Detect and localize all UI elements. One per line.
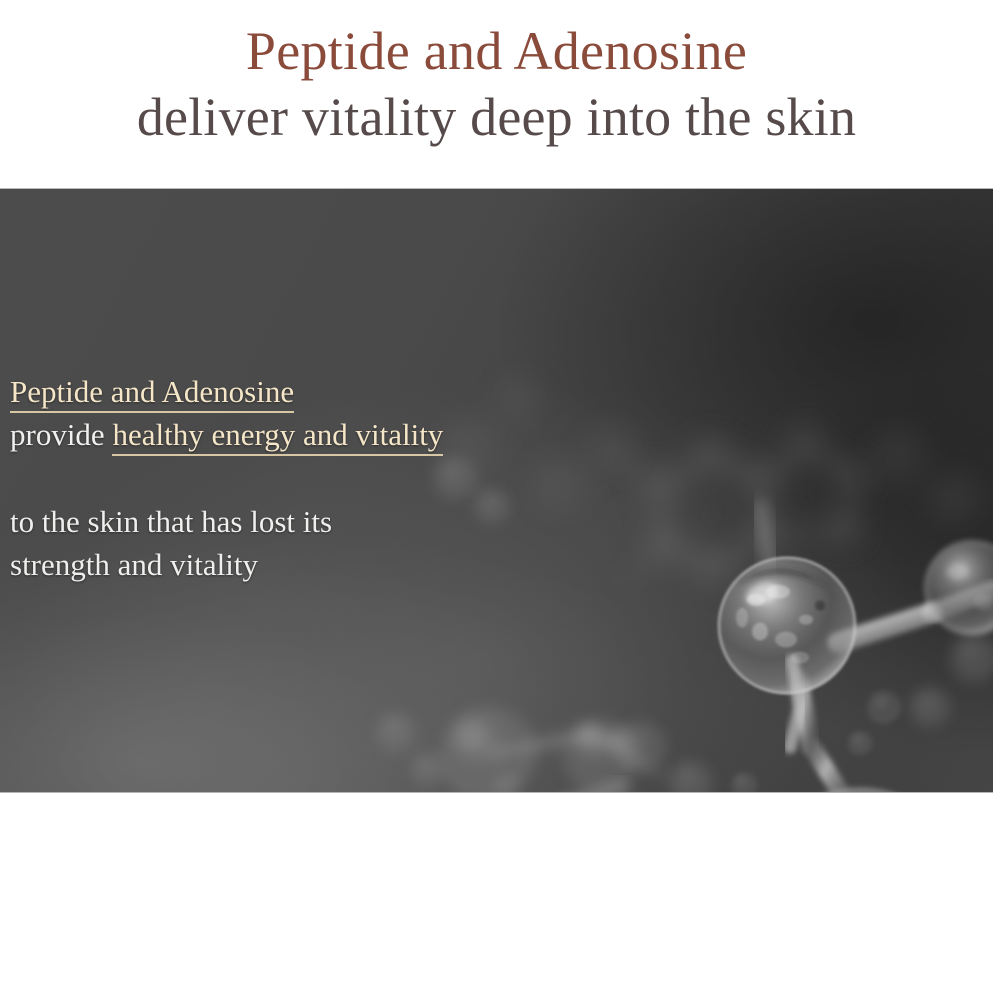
copy-line-2: provide healthy energy and vitality [10, 413, 570, 456]
highlight-healthy-energy-vitality: healthy energy and vitality [112, 417, 443, 456]
background-ring-cluster [612, 420, 876, 594]
molecule-sphere-center [506, 787, 624, 792]
molecule-image-panel: Peptide and Adenosine provide healthy en… [0, 188, 993, 793]
copy-paragraph-primary: Peptide and Adenosine provide healthy en… [10, 370, 570, 456]
copy-line-3: to the skin that has lost its [10, 500, 570, 543]
left-midground-cluster [440, 706, 668, 792]
copy-paragraph-secondary: to the skin that has lost its strength a… [10, 500, 570, 586]
copy-line-1: Peptide and Adenosine [10, 370, 570, 413]
heading-line-primary: Peptide and Adenosine [0, 18, 993, 84]
copy-line-4: strength and vitality [10, 543, 570, 586]
copy-word-provide: provide [10, 417, 112, 452]
panel-body-copy: Peptide and Adenosine provide healthy en… [10, 370, 570, 586]
highlight-peptide-adenosine: Peptide and Adenosine [10, 374, 294, 413]
page-heading: Peptide and Adenosine deliver vitality d… [0, 0, 993, 150]
footer-whitespace [0, 793, 993, 939]
heading-line-secondary: deliver vitality deep into the skin [0, 84, 993, 150]
molecule-sphere-edge-right [926, 542, 993, 634]
